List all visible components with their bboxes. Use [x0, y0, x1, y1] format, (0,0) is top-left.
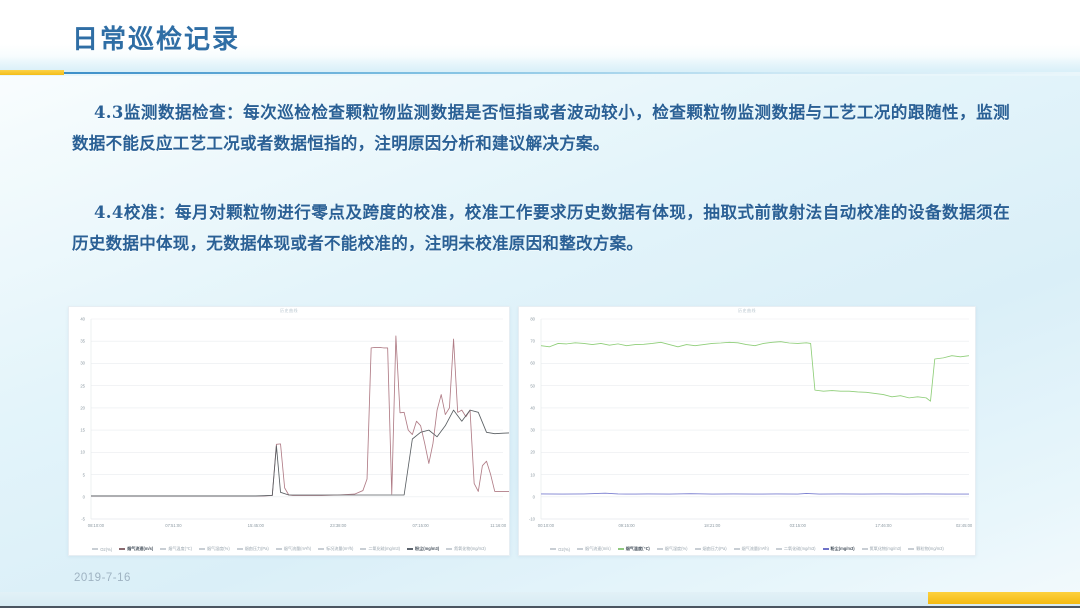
- legend-item[interactable]: 氮氧化物(mg/m3): [862, 546, 902, 552]
- chart-left-plot: [69, 307, 509, 555]
- x-axis-tick-label: 07:51:00: [165, 523, 181, 528]
- legend-item[interactable]: 烟气流速(m/s): [577, 546, 611, 552]
- header-rule-blue: [64, 72, 1080, 74]
- legend-item-label: O2(%): [558, 547, 570, 552]
- legend-item-label: 烟囱压力(Pa): [245, 546, 269, 552]
- legend-item-label: 烟气流速(m/s): [585, 546, 611, 552]
- x-axis-tick-label: 11:16:00: [490, 523, 506, 528]
- chart-series-line: [541, 342, 969, 402]
- legend-swatch-icon: [318, 548, 324, 549]
- footer-bar-yellow: [928, 592, 1080, 604]
- y-axis-tick-label: 15: [71, 428, 85, 433]
- legend-item[interactable]: 二氧化硫(mg/m3): [360, 546, 400, 552]
- footer-date: 2019-7-16: [74, 572, 131, 584]
- legend-item[interactable]: 烟气温度(℃): [618, 546, 650, 552]
- legend-item-label: 氮氧化物(mg/m3): [870, 546, 902, 552]
- y-axis-tick-label: -5: [71, 517, 85, 522]
- legend-swatch-icon: [199, 548, 205, 549]
- legend-item-label: 烟气湿度(%): [665, 546, 688, 552]
- legend-item-label: 颗粒物(mg/m3): [916, 546, 944, 552]
- legend-item[interactable]: 氮氧化物(mg/m3): [446, 546, 486, 552]
- paragraph-4-3: 4.3监测数据检查：每次巡检检查颗粒物监测数据是否恒指或者波动较小，检查颗粒物监…: [72, 97, 1010, 159]
- x-axis-tick-label: 23:38:00: [330, 523, 346, 528]
- legend-item[interactable]: 烟气湿度(%): [657, 546, 688, 552]
- legend-item[interactable]: 烟囱压力(Pa): [695, 546, 727, 552]
- legend-item[interactable]: 烟囱压力(Pa): [237, 546, 269, 552]
- page-title: 日常巡检记录: [72, 19, 240, 56]
- chart-series-line: [541, 493, 969, 494]
- y-axis-tick-label: 30: [71, 361, 85, 366]
- legend-swatch-icon: [160, 548, 166, 549]
- y-axis-tick-label: 10: [71, 450, 85, 455]
- legend-item-label: 二氧化硫(mg/m3): [368, 546, 400, 552]
- legend-item-label: O2(%): [100, 547, 112, 552]
- legend-swatch-icon: [657, 548, 663, 549]
- slide-root: 日常巡检记录 4.3监测数据检查：每次巡检检查颗粒物监测数据是否恒指或者波动较小…: [0, 0, 1080, 608]
- legend-swatch-icon: [862, 548, 868, 549]
- legend-item-label: 烟气温度(℃): [168, 546, 192, 552]
- x-axis-tick-label: 08:10:00: [88, 523, 104, 528]
- paragraph-4-4: 4.4校准：每月对颗粒物进行零点及跨度的校准，校准工作要求历史数据有体现，抽取式…: [72, 197, 1010, 259]
- legend-swatch-icon: [407, 548, 413, 550]
- chart-card-right[interactable]: 历史曲线 80706050403020100-1000:10:0009:15:0…: [518, 306, 976, 556]
- legend-swatch-icon: [695, 548, 701, 549]
- legend-item[interactable]: 烟气湿度(%): [199, 546, 230, 552]
- y-axis-tick-label: 80: [521, 317, 535, 322]
- legend-swatch-icon: [446, 548, 452, 549]
- y-axis-tick-label: -10: [521, 517, 535, 522]
- legend-swatch-icon: [734, 548, 740, 549]
- legend-item-label: 标况流量(m³/h): [326, 546, 353, 552]
- legend-item-label: 二氧化硫(mg/m3): [784, 546, 816, 552]
- legend-swatch-icon: [119, 548, 125, 550]
- y-axis-tick-label: 30: [521, 428, 535, 433]
- x-axis-tick-label: 17:46:00: [875, 523, 891, 528]
- legend-swatch-icon: [908, 548, 914, 549]
- legend-swatch-icon: [577, 548, 583, 549]
- y-axis-tick-label: 70: [521, 339, 535, 344]
- footer-bar: [0, 592, 1080, 608]
- chart-series-line: [91, 410, 509, 496]
- y-axis-tick-label: 40: [521, 405, 535, 410]
- chart-left-inner: 历史曲线 4035302520151050-508:10:0007:51:001…: [69, 307, 509, 555]
- legend-item[interactable]: 粉尘(mg/m3): [407, 546, 439, 552]
- y-axis-tick-label: 60: [521, 361, 535, 366]
- header-rule-yellow: [0, 70, 64, 75]
- y-axis-tick-label: 5: [71, 472, 85, 477]
- y-axis-tick-label: 0: [71, 494, 85, 499]
- y-axis-tick-label: 40: [71, 317, 85, 322]
- chart-card-left[interactable]: 历史曲线 4035302520151050-508:10:0007:51:001…: [68, 306, 510, 556]
- legend-swatch-icon: [276, 548, 282, 549]
- legend-item-label: 氮氧化物(mg/m3): [454, 546, 486, 552]
- legend-item[interactable]: 烟气流量(m³/h): [276, 546, 311, 552]
- legend-item-label: 粉尘(mg/m3): [415, 546, 439, 552]
- legend-item-label: 烟气湿度(%): [207, 546, 230, 552]
- legend-item[interactable]: 烟气流速(m/s): [119, 546, 153, 552]
- header-rule: [0, 70, 1080, 75]
- legend-item[interactable]: 颗粒物(mg/m3): [908, 546, 944, 552]
- y-axis-tick-label: 10: [521, 472, 535, 477]
- legend-item-label: 烟气流量(m³/h): [284, 546, 311, 552]
- legend-item-label: 烟囱压力(Pa): [703, 546, 727, 552]
- legend-item-label: 粉尘(mg/m3): [831, 546, 855, 552]
- chart-right-inner: 历史曲线 80706050403020100-1000:10:0009:15:0…: [519, 307, 975, 555]
- legend-swatch-icon: [360, 548, 366, 549]
- legend-item-label: 烟气温度(℃): [626, 546, 650, 552]
- x-axis-tick-label: 15:45:00: [248, 523, 264, 528]
- legend-item-label: 烟气流量(m³/h): [742, 546, 769, 552]
- legend-swatch-icon: [823, 548, 829, 550]
- legend-item[interactable]: 烟气流量(m³/h): [734, 546, 769, 552]
- legend-swatch-icon: [618, 548, 624, 550]
- y-axis-tick-label: 0: [521, 494, 535, 499]
- legend-swatch-icon: [237, 548, 243, 549]
- x-axis-tick-label: 18:21:00: [704, 523, 720, 528]
- x-axis-tick-label: 07:15:00: [412, 523, 428, 528]
- x-axis-tick-label: 00:10:00: [538, 523, 554, 528]
- x-axis-tick-label: 02:45:00: [956, 523, 972, 528]
- legend-swatch-icon: [92, 548, 98, 549]
- x-axis-tick-label: 09:15:00: [618, 523, 634, 528]
- chart-left-legend: O2(%)烟气流速(m/s)烟气温度(℃)烟气湿度(%)烟囱压力(Pa)烟气流量…: [69, 546, 509, 552]
- legend-item[interactable]: O2(%): [550, 547, 570, 552]
- y-axis-tick-label: 35: [71, 339, 85, 344]
- legend-item[interactable]: 标况流量(m³/h): [318, 546, 353, 552]
- legend-item[interactable]: 粉尘(mg/m3): [823, 546, 855, 552]
- y-axis-tick-label: 25: [71, 383, 85, 388]
- y-axis-tick-label: 50: [521, 383, 535, 388]
- legend-item[interactable]: 烟气温度(℃): [160, 546, 192, 552]
- y-axis-tick-label: 20: [521, 450, 535, 455]
- legend-swatch-icon: [776, 548, 782, 549]
- legend-item[interactable]: O2(%): [92, 547, 112, 552]
- legend-item-label: 烟气流速(m/s): [127, 546, 153, 552]
- y-axis-tick-label: 20: [71, 405, 85, 410]
- legend-swatch-icon: [550, 548, 556, 549]
- legend-item[interactable]: 二氧化硫(mg/m3): [776, 546, 816, 552]
- x-axis-tick-label: 03:15:00: [790, 523, 806, 528]
- chart-right-plot: [519, 307, 975, 555]
- chart-series-line: [91, 336, 509, 496]
- chart-right-legend: O2(%)烟气流速(m/s)烟气温度(℃)烟气湿度(%)烟囱压力(Pa)烟气流量…: [519, 546, 975, 552]
